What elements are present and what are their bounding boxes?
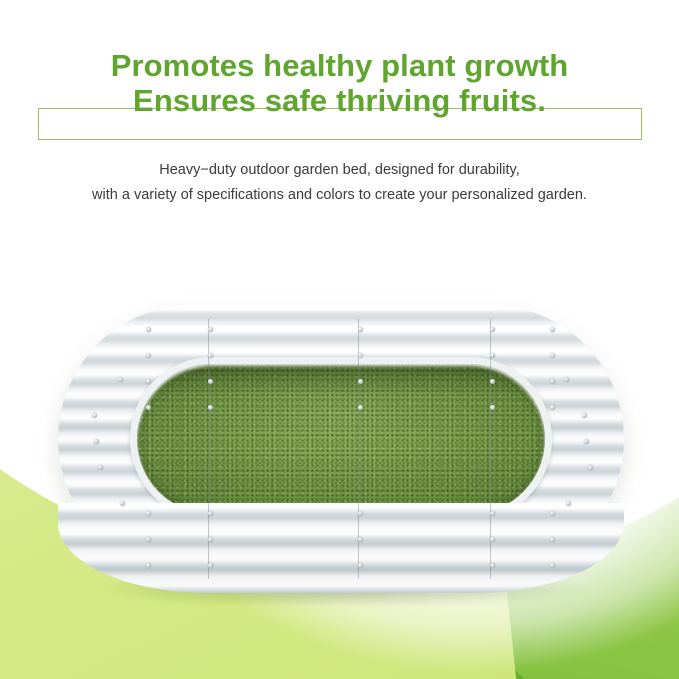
screw-head	[146, 563, 151, 568]
bed-front-wall	[58, 503, 624, 593]
screw-head	[358, 379, 363, 384]
screw-head	[146, 405, 151, 410]
screw-head	[98, 465, 103, 470]
bed-inner-rim	[130, 357, 552, 521]
screw-head	[146, 379, 151, 384]
headline-line-1: Promotes healthy plant growth	[0, 50, 679, 82]
screw-head	[490, 511, 495, 516]
screw-head	[358, 405, 363, 410]
screw-head	[490, 563, 495, 568]
screw-head	[550, 327, 555, 332]
screw-head	[146, 511, 151, 516]
page-title: Promotes healthy plant growth Ensures sa…	[0, 50, 679, 117]
screw-head	[582, 413, 587, 418]
screw-head	[118, 377, 123, 382]
screw-head	[550, 511, 555, 516]
screw-head	[120, 501, 125, 506]
screw-head	[208, 563, 213, 568]
screw-head	[490, 327, 495, 332]
product-raised-garden-bed	[58, 305, 624, 605]
subtitle: Heavy−duty outdoor garden bed, designed …	[0, 158, 679, 208]
screw-head	[584, 439, 589, 444]
screw-head	[490, 405, 495, 410]
banner-canvas: Promotes healthy plant growth Ensures sa…	[0, 0, 679, 679]
screw-head	[208, 379, 213, 384]
screw-head	[208, 537, 213, 542]
screw-head	[146, 537, 151, 542]
screw-head	[92, 413, 97, 418]
screw-head	[490, 353, 495, 358]
screw-head	[566, 501, 571, 506]
screw-head	[358, 563, 363, 568]
bed-front-corrugation	[58, 503, 624, 593]
screw-head	[550, 563, 555, 568]
screw-head	[208, 327, 213, 332]
screw-head	[550, 537, 555, 542]
screw-head	[550, 353, 555, 358]
subtitle-line-1: Heavy−duty outdoor garden bed, designed …	[0, 158, 679, 183]
screw-head	[358, 511, 363, 516]
screw-head	[208, 353, 213, 358]
headline-line-2: Ensures safe thriving fruits.	[0, 85, 679, 117]
screw-head	[358, 327, 363, 332]
screw-head	[146, 327, 151, 332]
screw-head	[588, 465, 593, 470]
screw-head	[94, 439, 99, 444]
screw-head	[550, 405, 555, 410]
screw-head	[208, 405, 213, 410]
screw-head	[358, 537, 363, 542]
screw-head	[490, 379, 495, 384]
screw-head	[358, 353, 363, 358]
screw-head	[146, 353, 151, 358]
screw-head	[208, 511, 213, 516]
screw-head	[490, 537, 495, 542]
subtitle-line-2: with a variety of specifications and col…	[0, 183, 679, 208]
screw-head	[550, 379, 555, 384]
screw-head	[564, 377, 569, 382]
